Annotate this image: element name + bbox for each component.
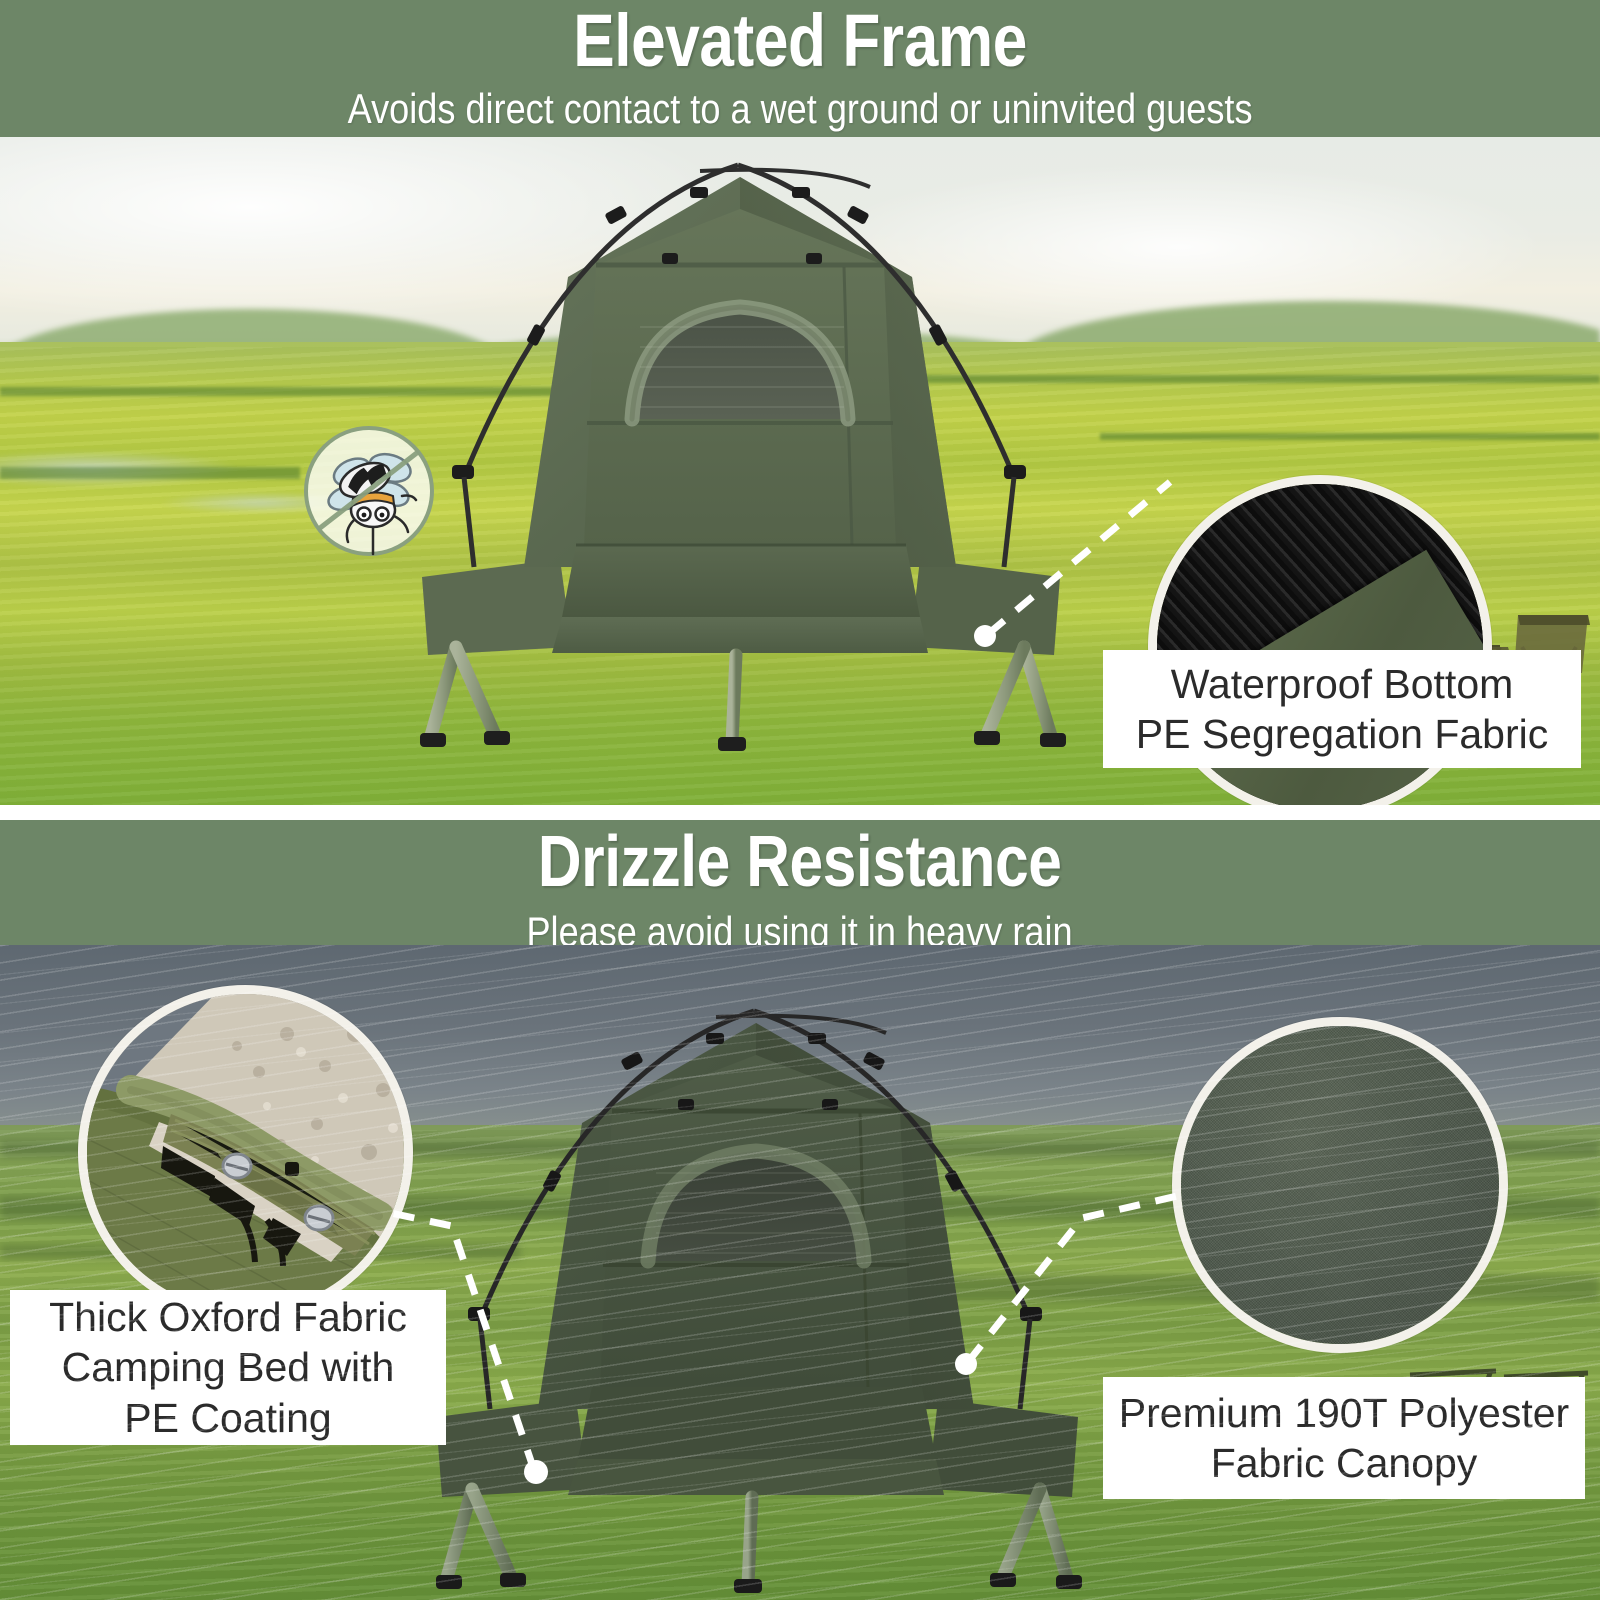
hedge-row bbox=[1100, 433, 1600, 440]
infographic-page: Elevated Frame Avoids direct contact to … bbox=[0, 0, 1600, 1600]
caption-line: Waterproof Bottom bbox=[1171, 659, 1514, 709]
caption-line: PE Coating bbox=[124, 1393, 331, 1443]
no-bug-icon bbox=[302, 424, 436, 558]
callout-circle-polyester-canopy bbox=[1172, 1017, 1508, 1353]
section-header-drizzle-resistance: Drizzle Resistance Please avoid using it… bbox=[0, 820, 1600, 945]
section-title: Drizzle Resistance bbox=[538, 826, 1062, 898]
section-divider bbox=[0, 805, 1600, 820]
scene-rainy-grassland bbox=[0, 945, 1600, 1600]
section-subtitle: Avoids direct contact to a wet ground or… bbox=[348, 87, 1253, 131]
polyester-fabric-texture bbox=[1181, 1026, 1499, 1344]
section-title: Elevated Frame bbox=[573, 4, 1027, 78]
no-bug-badge bbox=[302, 424, 436, 558]
caption-line: Fabric Canopy bbox=[1211, 1438, 1478, 1488]
section-header-elevated-frame: Elevated Frame Avoids direct contact to … bbox=[0, 0, 1600, 137]
caption-line: Thick Oxford Fabric bbox=[49, 1292, 407, 1342]
tent-cot-illustration bbox=[410, 997, 1100, 1597]
section-subtitle: Please avoid using it in heavy rain bbox=[527, 910, 1073, 945]
caption-line: PE Segregation Fabric bbox=[1136, 709, 1549, 759]
caption-oxford-bed: Thick Oxford Fabric Camping Bed with PE … bbox=[10, 1290, 446, 1445]
hedge-row bbox=[0, 467, 300, 479]
tent-cot-illustration bbox=[400, 147, 1080, 767]
bed-corner-detail bbox=[87, 994, 413, 1320]
caption-polyester-canopy: Premium 190T Polyester Fabric Canopy bbox=[1103, 1377, 1585, 1499]
oxford-fabric-closeup bbox=[87, 994, 404, 1311]
caption-line: Premium 190T Polyester bbox=[1119, 1388, 1569, 1438]
callout-circle-oxford-bed bbox=[78, 985, 413, 1320]
caption-line: Camping Bed with bbox=[62, 1342, 395, 1392]
caption-waterproof-bottom: Waterproof Bottom PE Segregation Fabric bbox=[1103, 650, 1581, 768]
